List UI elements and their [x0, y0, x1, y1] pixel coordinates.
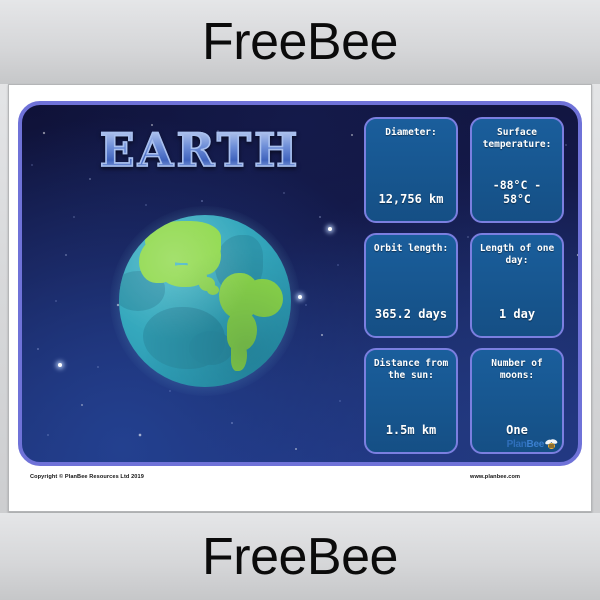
freebee-watermark-top: FreeBee: [202, 16, 398, 68]
poster-title: EARTH: [40, 127, 360, 173]
bright-star: [58, 363, 62, 367]
website-url[interactable]: www.planbee.com: [470, 474, 520, 480]
top-watermark-band: FreeBee: [0, 0, 600, 84]
fact-label: Surface temperature:: [476, 127, 558, 151]
fact-value: -88°C - 58°C: [476, 178, 558, 215]
fact-box-grid: Diameter: 12,756 km Surface temperature:…: [364, 117, 564, 454]
fact-label: Diameter:: [385, 127, 436, 139]
earth-poster: EARTH: [18, 101, 582, 466]
logo-plan: Plan: [507, 439, 527, 450]
fact-label: Distance from the sun:: [370, 358, 452, 382]
earth-globe: [119, 215, 291, 387]
planbee-logo: PlanBee: [507, 439, 558, 450]
fact-value: 365.2 days: [375, 307, 447, 330]
fact-label: Length of one day:: [476, 243, 558, 267]
fact-box-distance-from-sun: Distance from the sun: 1.5m km: [364, 348, 458, 454]
fact-value: 1 day: [499, 307, 535, 330]
fact-box-surface-temperature: Surface temperature: -88°C - 58°C: [470, 117, 564, 223]
bottom-watermark-band: FreeBee: [0, 513, 600, 600]
copyright-notice: Copyright © PlanBee Resources Ltd 2019: [30, 474, 144, 480]
fact-box-orbit-length: Orbit length: 365.2 days: [364, 233, 458, 339]
fact-label: Orbit length:: [374, 243, 448, 255]
screenshot-root: FreeBee EARTH: [0, 0, 600, 600]
fact-box-length-of-one-day: Length of one day: 1 day: [470, 233, 564, 339]
logo-bee: Bee: [527, 439, 544, 450]
planbee-logo-text: PlanBee: [507, 440, 544, 450]
bee-icon: [545, 439, 558, 450]
bright-star: [328, 227, 332, 231]
freebee-watermark-bottom: FreeBee: [202, 531, 398, 583]
fact-value: 12,756 km: [378, 192, 443, 215]
fact-value: 1.5m km: [386, 423, 437, 446]
earth-shading: [119, 215, 291, 387]
fact-box-number-of-moons: Number of moons: One PlanBee: [470, 348, 564, 454]
earth-illustration: [119, 215, 291, 387]
fact-box-diameter: Diameter: 12,756 km: [364, 117, 458, 223]
fact-label: Number of moons:: [476, 358, 558, 382]
